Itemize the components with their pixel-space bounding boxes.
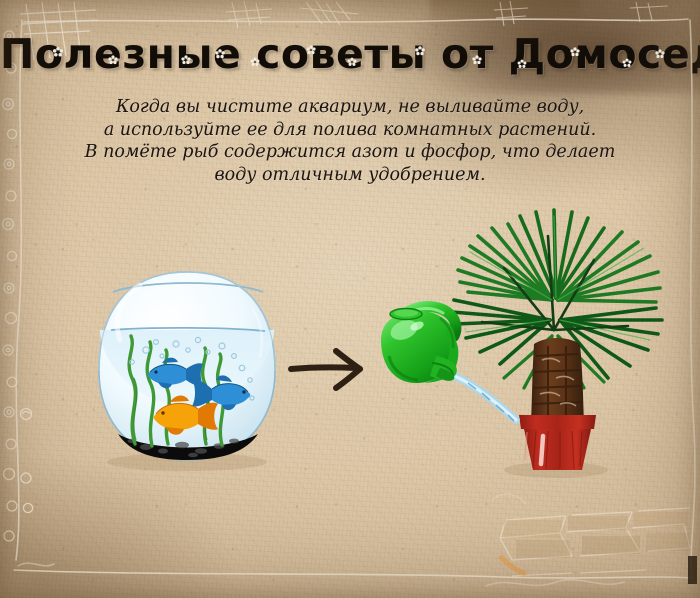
hatch-top-right — [494, 1, 668, 26]
pot-rim — [519, 418, 596, 424]
frond-mid-left — [452, 300, 550, 364]
fish-gold — [154, 396, 218, 435]
brick-sketch-tint — [504, 512, 690, 558]
chalk-frame — [0, 0, 700, 598]
poster-vignette — [0, 0, 700, 598]
pot-body — [524, 429, 591, 470]
frond-upper-left — [458, 224, 552, 300]
fish-blue-upper — [148, 358, 203, 389]
doodle-circles-left — [3, 31, 33, 541]
water-bubbles — [130, 337, 254, 400]
paper-grain-texture — [0, 0, 700, 598]
gravel-pebbles — [128, 439, 240, 458]
water-stream — [452, 375, 516, 421]
poster-body-text: Когда вы чистите аквариум, не выливайте … — [34, 96, 666, 186]
body-line-4: воду отличным удобрением. — [34, 164, 666, 187]
trunk-texture — [532, 346, 582, 420]
frond-top — [520, 210, 604, 298]
fan-palm-plant — [452, 210, 662, 470]
paper-speckle-texture — [0, 0, 700, 598]
right-arrow-icon — [291, 351, 360, 388]
brick-sketch-bottom-right — [492, 494, 690, 576]
illustration-group — [0, 0, 700, 598]
hatch-top-middle — [226, 1, 358, 28]
body-line-3: В помёте рыб содержится азот и фосфор, ч… — [34, 141, 666, 164]
edge-mark — [688, 556, 697, 584]
fish-blue-right — [192, 375, 250, 410]
poster-canvas: Полезные советы от Домоседа — [0, 0, 700, 598]
frond-upper-right — [558, 232, 660, 302]
fishbowl-illustration — [95, 272, 279, 470]
frond-mid-right — [560, 308, 662, 378]
pot-lip — [519, 415, 596, 429]
paper-tape-mark — [430, 0, 580, 28]
body-line-1: Когда вы чистите аквариум, не выливайте … — [34, 96, 666, 119]
pot-highlight — [541, 436, 543, 464]
body-line-2: а используйте ее для полива комнатных ра… — [34, 119, 666, 142]
watering-can-illustration — [381, 307, 458, 383]
orange-smudge — [500, 556, 526, 574]
seaweed-plants — [129, 336, 223, 446]
frond-lower — [504, 336, 604, 392]
poster-title: Полезные советы от Домоседа — [0, 30, 700, 78]
poster-title-text: Полезные советы от Домоседа — [0, 30, 700, 78]
